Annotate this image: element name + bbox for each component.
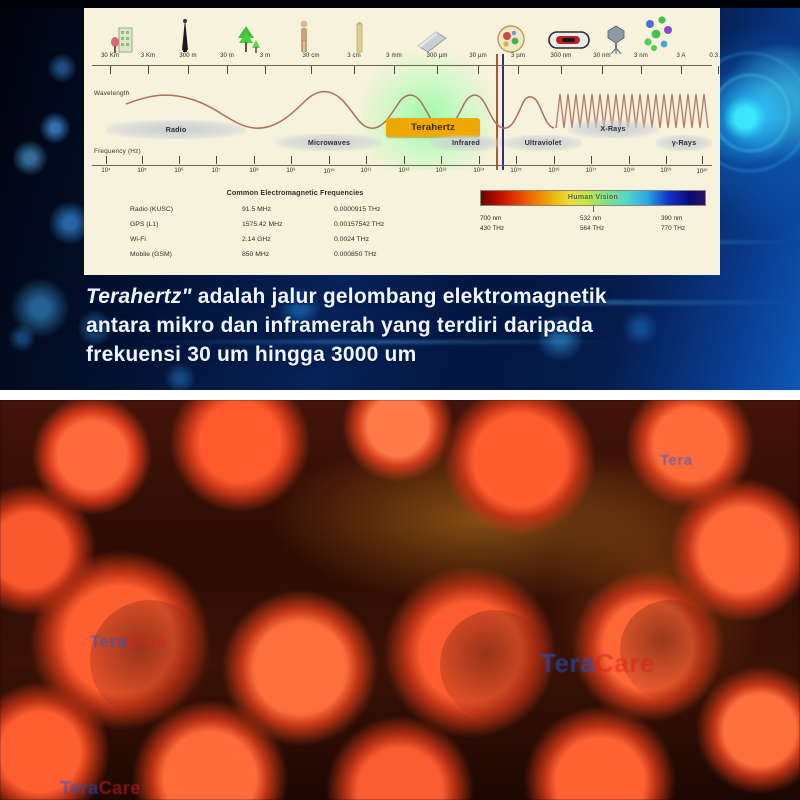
axis-tick xyxy=(179,156,180,164)
cell-frequency: 91.5 MHz xyxy=(242,206,334,213)
em-spectrum-chart: 30 Km 3 Km 300 m 30 m 3 m 30 cm 3 cm 3 m… xyxy=(84,8,720,275)
axis-tick xyxy=(311,66,312,74)
axis-tick xyxy=(354,66,355,74)
axis-tick xyxy=(291,156,292,164)
wavelength-tick: 3 nm xyxy=(634,52,648,59)
axis-tick xyxy=(718,66,719,74)
wavelength-tick: 3 A xyxy=(676,52,685,59)
vision-nm: 532 nm xyxy=(580,214,604,224)
axis-tick xyxy=(591,156,592,164)
wavelength-tick: 3 cm xyxy=(347,52,361,59)
cell-frequency: 850 MHz xyxy=(242,251,334,258)
vision-mark: 390 nm 770 THz xyxy=(661,214,685,234)
axis-tick xyxy=(554,156,555,164)
axis-tick xyxy=(516,156,517,164)
human-vision-title: Human Vision xyxy=(481,194,705,201)
cell-thz: 0.000850 THz xyxy=(334,251,454,258)
band-microwaves: Microwaves xyxy=(276,134,382,151)
frequency-tick: 10⁹ xyxy=(286,168,295,174)
vision-thz: 770 THz xyxy=(661,224,685,234)
human-vision-marks: 700 nm 430 THz 532 nm 564 THz 390 nm 770… xyxy=(480,214,706,238)
panel-divider xyxy=(0,390,800,400)
caption-line-2: antara mikro dan inframerah yang terdiri… xyxy=(86,311,726,340)
visible-spectrum-bar: Human Vision xyxy=(480,190,706,206)
watermark-care: Care xyxy=(127,632,167,651)
wavelength-tick: 0.3 A xyxy=(709,52,720,59)
axis-tick xyxy=(437,66,438,74)
frequency-tick: 10¹⁹ xyxy=(660,168,671,174)
frequency-tick: 10¹⁴ xyxy=(473,168,484,174)
vision-thz: 430 THz xyxy=(480,224,504,234)
cell-thz: 0.0024 THz xyxy=(334,236,454,243)
wavelength-tick-labels: 30 Km 3 Km 300 m 30 m 3 m 30 cm 3 cm 3 m… xyxy=(84,52,720,65)
axis-tick xyxy=(702,156,703,164)
vision-nm: 390 nm xyxy=(661,214,685,224)
table-row: Wi-Fi 2.14 GHz 0.0024 THz xyxy=(130,232,460,247)
wavelength-tick: 30 Km xyxy=(101,52,119,59)
watermark-teracare: TeraCare xyxy=(90,632,166,652)
frequency-tick: 10¹¹ xyxy=(361,168,372,174)
cell-source: Radio (KUSC) xyxy=(130,206,242,213)
watermark-teracare: TeraCare xyxy=(60,778,141,799)
axis-tick xyxy=(188,66,189,74)
wavelength-tick: 3 µm xyxy=(511,52,525,59)
watermark-tera: Tera xyxy=(60,778,99,798)
cells-slide-panel: TeraCare TeraCare Tera TeraCare Terahert… xyxy=(0,400,800,800)
panel-one-caption: Terahertz" adalah jalur gelombang elektr… xyxy=(86,282,726,369)
wavelength-tick: 3 m xyxy=(260,52,270,59)
cell-thz: 0.00157542 THz xyxy=(334,221,454,228)
wavelength-tick: 30 cm xyxy=(302,52,319,59)
axis-tick xyxy=(478,66,479,74)
axis-tick xyxy=(106,156,107,164)
wavelength-tick: 3 mm xyxy=(386,52,402,59)
wavelength-ticks xyxy=(84,66,720,75)
cell-shading xyxy=(440,610,550,720)
wavelength-tick: 30 nm xyxy=(593,52,610,59)
building-icon xyxy=(110,22,136,54)
frequency-tick: 10⁸ xyxy=(249,168,258,174)
wavelength-tick: 30 µm xyxy=(469,52,487,59)
frequency-tick: 10⁴ xyxy=(101,168,110,174)
molecule-icon xyxy=(640,14,676,54)
frequency-tick: 10¹⁵ xyxy=(510,168,521,174)
axis-tick xyxy=(441,156,442,164)
frequency-ticks xyxy=(84,156,720,165)
frequency-tick: 10¹⁷ xyxy=(586,168,597,174)
frequency-tick: 10⁶ xyxy=(174,168,183,174)
axis-tick xyxy=(602,66,603,74)
cell-icon xyxy=(496,24,526,54)
band-infrared: Infrared xyxy=(430,135,502,151)
watermark-care: Care xyxy=(99,778,141,798)
axis-tick xyxy=(110,66,111,74)
frequency-tick: 10⁵ xyxy=(137,168,146,174)
common-frequencies-table: Common Electromagnetic Frequencies Radio… xyxy=(130,188,460,262)
scale-icon-row xyxy=(84,10,720,54)
frequency-tick: 10¹⁶ xyxy=(548,168,559,174)
cell-shading xyxy=(90,600,210,720)
axis-tick xyxy=(641,66,642,74)
cell-source: Wi-Fi xyxy=(130,236,242,243)
frequency-tick: 10¹³ xyxy=(436,168,447,174)
band-xrays: X-Rays xyxy=(568,120,658,138)
frequency-axis-label: Frequency (Hz) xyxy=(94,148,141,155)
watermark-tera: Tera xyxy=(660,452,693,469)
axis-tick xyxy=(681,66,682,74)
axis-tick xyxy=(254,156,255,164)
frequency-tick: 10¹² xyxy=(399,168,410,174)
wavelength-tick: 30 m xyxy=(220,52,234,59)
human-icon xyxy=(296,20,312,54)
vision-nm: 700 nm xyxy=(480,214,504,224)
table-row: GPS (L1) 1575.42 MHz 0.00157542 THz xyxy=(130,217,460,232)
caption-emphasis: Terahertz" xyxy=(86,285,192,308)
wavelength-tick: 300 nm xyxy=(551,52,572,59)
table-row: Radio (KUSC) 91.5 MHz 0.0000915 THz xyxy=(130,202,460,217)
axis-tick xyxy=(227,66,228,74)
vision-mark: 532 nm 564 THz xyxy=(580,214,604,234)
bacteria-icon xyxy=(546,26,592,54)
book-icon xyxy=(414,26,448,54)
watermark-tera: Tera xyxy=(540,648,595,678)
tree-icon xyxy=(232,22,262,54)
wavelength-tick: 300 µm xyxy=(426,52,447,59)
axis-tick xyxy=(404,156,405,164)
axis-tick xyxy=(518,66,519,74)
band-ultraviolet: Ultraviolet xyxy=(504,135,582,151)
cell-frequency: 2.14 GHz xyxy=(242,236,334,243)
wavelength-tick: 3 Km xyxy=(141,52,156,59)
watermark-care: Care xyxy=(595,648,655,678)
table-title: Common Electromagnetic Frequencies xyxy=(130,188,460,197)
caption-line-3: frekuensi 30 um hingga 3000 um xyxy=(86,340,726,369)
frequency-axis-line xyxy=(92,165,712,166)
human-vision-center-tick xyxy=(593,206,594,212)
virus-icon xyxy=(604,24,628,54)
watermark-tera-text: Tera xyxy=(660,452,693,469)
wavelength-tick: 300 m xyxy=(179,52,196,59)
band-gamma-rays: γ-Rays xyxy=(656,135,712,151)
axis-tick xyxy=(561,66,562,74)
cell-thz: 0.0000915 THz xyxy=(334,206,454,213)
caption-line-1-rest: adalah jalur gelombang elektromagnetik xyxy=(192,285,607,308)
axis-tick xyxy=(394,66,395,74)
watermark-tera: Tera xyxy=(90,632,127,651)
pencil-icon xyxy=(352,22,366,54)
watermark-teracare: TeraCare xyxy=(540,648,655,679)
axis-tick xyxy=(629,156,630,164)
axis-tick xyxy=(329,156,330,164)
axis-tick xyxy=(366,156,367,164)
spectrum-slide-panel: 30 Km 3 Km 300 m 30 m 3 m 30 cm 3 cm 3 m… xyxy=(0,0,800,390)
vision-thz: 564 THz xyxy=(580,224,604,234)
human-vision-legend: Human Vision 700 nm 430 THz 532 nm 564 T… xyxy=(480,190,706,238)
axis-tick xyxy=(265,66,266,74)
caption-line-1: Terahertz" adalah jalur gelombang elektr… xyxy=(86,282,726,311)
radio-tower-icon xyxy=(177,18,193,54)
axis-tick xyxy=(479,156,480,164)
cell-frequency: 1575.42 MHz xyxy=(242,221,334,228)
vision-mark: 700 nm 430 THz xyxy=(480,214,504,234)
frequency-tick: 10¹⁰ xyxy=(323,168,334,175)
table-row: Mobile (GSM) 850 MHz 0.000850 THz xyxy=(130,247,460,262)
cell-source: GPS (L1) xyxy=(130,221,242,228)
band-radio: Radio xyxy=(106,120,246,139)
frequency-tick: 10⁷ xyxy=(212,168,221,174)
frequency-tick: 10²⁰ xyxy=(696,168,707,175)
axis-tick xyxy=(148,66,149,74)
axis-tick xyxy=(142,156,143,164)
energy-arc xyxy=(712,74,790,152)
axis-tick xyxy=(216,156,217,164)
frequency-tick-labels: 10⁴10⁵10⁶10⁷10⁸10⁹10¹⁰10¹¹10¹²10¹³10¹⁴10… xyxy=(84,168,720,180)
cell-source: Mobile (GSM) xyxy=(130,251,242,258)
frequency-tick: 10¹⁸ xyxy=(623,168,634,174)
axis-tick xyxy=(666,156,667,164)
